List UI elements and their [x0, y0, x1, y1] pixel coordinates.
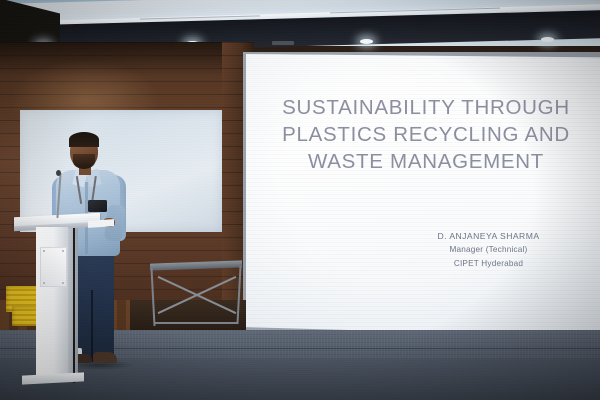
microphone-icon — [56, 170, 61, 176]
downlight-icon — [360, 39, 373, 44]
presentation-photo-scene: SUSTAINABILITY THROUGH PLASTICS RECYCLIN… — [0, 0, 600, 400]
presenter-shoe-right — [93, 352, 117, 363]
panel-screw — [43, 250, 45, 252]
panel-screw — [62, 282, 64, 284]
panel-screw — [43, 282, 45, 284]
presenter-beard — [73, 154, 95, 169]
downlight-icon — [541, 37, 554, 42]
panel-screw — [62, 250, 64, 252]
screen-vignette — [246, 54, 600, 337]
lectern-cable — [73, 228, 78, 383]
lectern-front-panel — [40, 247, 67, 287]
trouser-crease — [91, 290, 93, 362]
side-table-foot-rail — [154, 322, 238, 324]
name-badge — [88, 200, 107, 212]
projection-screen: SUSTAINABILITY THROUGH PLASTICS RECYCLIN… — [246, 54, 600, 337]
presenter-hair — [69, 132, 99, 147]
air-vent-icon — [272, 41, 294, 45]
